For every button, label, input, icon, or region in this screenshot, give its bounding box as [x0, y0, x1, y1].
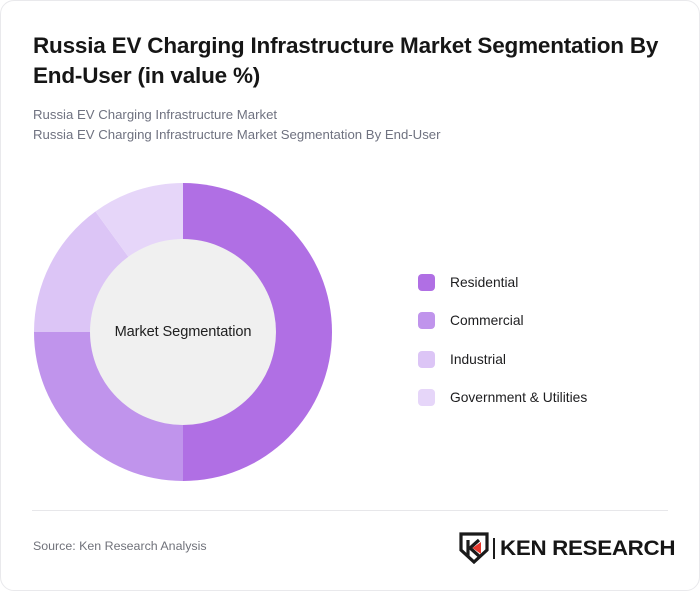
donut-chart: Market Segmentation [33, 182, 333, 482]
legend-swatch-icon [418, 312, 435, 329]
page-title: Russia EV Charging Infrastructure Market… [33, 31, 669, 91]
subtitle-line-2: Russia EV Charging Infrastructure Market… [33, 125, 669, 145]
legend-swatch-icon [418, 389, 435, 406]
brand-separator [493, 538, 495, 559]
chart-header: Russia EV Charging Infrastructure Market… [33, 31, 669, 146]
chart-legend: ResidentialCommercialIndustrialGovernmen… [418, 263, 587, 417]
donut-hole [90, 239, 276, 425]
chart-plot-area: Market Segmentation ResidentialCommercia… [1, 161, 700, 506]
legend-item-label: Residential [450, 275, 518, 290]
subtitle-line-1: Russia EV Charging Infrastructure Market [33, 105, 669, 125]
legend-swatch-icon [418, 274, 435, 291]
chart-subtitle: Russia EV Charging Infrastructure Market… [33, 105, 669, 146]
legend-swatch-icon [418, 351, 435, 368]
source-text: Source: Ken Research Analysis [33, 539, 207, 553]
legend-item[interactable]: Residential [418, 263, 587, 302]
chart-footer: Source: Ken Research Analysis KEN RESEAR… [33, 531, 668, 565]
legend-item-label: Government & Utilities [450, 390, 587, 405]
legend-item[interactable]: Commercial [418, 302, 587, 341]
ken-research-shield-icon [459, 532, 489, 564]
brand-logo: KEN RESEARCH [459, 531, 668, 565]
legend-item[interactable]: Industrial [418, 340, 587, 379]
chart-card: Russia EV Charging Infrastructure Market… [0, 0, 700, 591]
legend-item-label: Commercial [450, 313, 524, 328]
legend-item[interactable]: Government & Utilities [418, 379, 587, 418]
donut-svg [33, 182, 333, 482]
footer-divider [32, 510, 668, 511]
brand-name: KEN RESEARCH [500, 536, 675, 561]
legend-item-label: Industrial [450, 352, 506, 367]
